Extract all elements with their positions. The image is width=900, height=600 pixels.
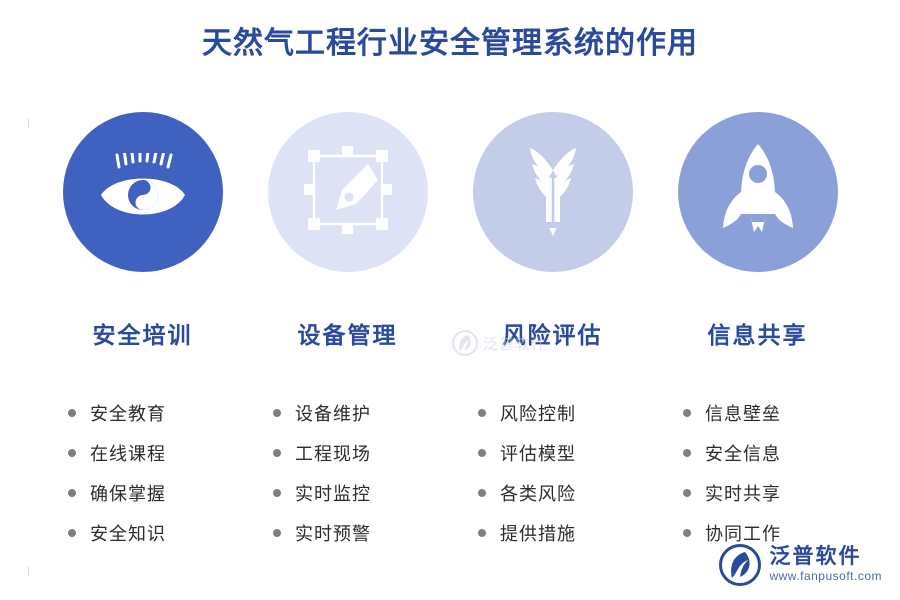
bullet-label: 评估模型 xyxy=(500,440,576,466)
list-item: 安全知识 xyxy=(50,520,235,546)
list-item: 确保掌握 xyxy=(50,480,235,506)
bullet-dot-icon xyxy=(478,409,486,417)
bullet-label: 风险控制 xyxy=(500,400,576,426)
bullet-dot-icon xyxy=(68,529,76,537)
rocket-icon xyxy=(712,140,804,245)
list-item: 评估模型 xyxy=(460,440,645,466)
list-item: 实时共享 xyxy=(665,480,850,506)
bullet-label: 协同工作 xyxy=(705,520,781,546)
column-information-sharing: 信息共享 信息壁垒 安全信息 实时共享 协同工作 xyxy=(665,112,850,560)
icon-circle-3 xyxy=(473,112,633,272)
bullet-label: 安全知识 xyxy=(90,520,166,546)
column-heading-1: 安全培训 xyxy=(93,316,193,350)
edge-tick-left-bottom xyxy=(28,566,29,576)
bullet-label: 在线课程 xyxy=(90,440,166,466)
bullet-label: 各类风险 xyxy=(500,480,576,506)
bullet-label: 提供措施 xyxy=(500,520,576,546)
bullet-label: 确保掌握 xyxy=(90,480,166,506)
icon-circle-1 xyxy=(63,112,223,272)
eye-icon xyxy=(95,153,191,232)
bullet-label: 设备维护 xyxy=(295,400,371,426)
icon-circle-4 xyxy=(678,112,838,272)
bullet-dot-icon xyxy=(478,529,486,537)
bullet-dot-icon xyxy=(478,489,486,497)
list-item: 安全教育 xyxy=(50,400,235,426)
column-heading-3: 风险评估 xyxy=(503,316,603,350)
bullet-label: 实时共享 xyxy=(705,480,781,506)
bullet-list-4: 信息壁垒 安全信息 实时共享 协同工作 xyxy=(665,400,850,560)
list-item: 信息壁垒 xyxy=(665,400,850,426)
list-item: 提供措施 xyxy=(460,520,645,546)
list-item: 实时预警 xyxy=(255,520,440,546)
bullet-label: 工程现场 xyxy=(295,440,371,466)
diagram-page: 天然气工程行业安全管理系统的作用 xyxy=(0,0,900,600)
bullet-label: 信息壁垒 xyxy=(705,400,781,426)
list-item: 各类风险 xyxy=(460,480,645,506)
bullet-label: 安全教育 xyxy=(90,400,166,426)
bullet-dot-icon xyxy=(68,489,76,497)
bullet-dot-icon xyxy=(68,449,76,457)
column-equipment-management: 设备管理 设备维护 工程现场 实时监控 实时预警 xyxy=(255,112,440,560)
bullet-dot-icon xyxy=(273,489,281,497)
bullet-list-2: 设备维护 工程现场 实时监控 实时预警 xyxy=(255,400,440,560)
bullet-dot-icon xyxy=(683,489,691,497)
columns-container: 安全培训 安全教育 在线课程 确保掌握 安全知识 xyxy=(50,112,850,560)
column-risk-assessment: 风险评估 风险控制 评估模型 各类风险 提供措施 xyxy=(460,112,645,560)
column-safety-training: 安全培训 安全教育 在线课程 确保掌握 安全知识 xyxy=(50,112,235,560)
bullet-list-1: 安全教育 在线课程 确保掌握 安全知识 xyxy=(50,400,235,560)
bullet-dot-icon xyxy=(683,529,691,537)
bullet-list-3: 风险控制 评估模型 各类风险 提供措施 xyxy=(460,400,645,560)
bullet-dot-icon xyxy=(273,449,281,457)
bullet-dot-icon xyxy=(273,529,281,537)
list-item: 在线课程 xyxy=(50,440,235,466)
bullet-dot-icon xyxy=(68,409,76,417)
edge-tick-left-top xyxy=(28,118,29,128)
bullet-dot-icon xyxy=(683,409,691,417)
icon-circle-2 xyxy=(268,112,428,272)
bullet-label: 安全信息 xyxy=(705,440,781,466)
bullet-label: 实时监控 xyxy=(295,480,371,506)
watermark-url: www.fanpusoft.com xyxy=(769,568,882,585)
list-item: 风险控制 xyxy=(460,400,645,426)
column-heading-2: 设备管理 xyxy=(298,316,398,350)
list-item: 实时监控 xyxy=(255,480,440,506)
bullet-dot-icon xyxy=(683,449,691,457)
list-item: 安全信息 xyxy=(665,440,850,466)
seedling-pencil-icon xyxy=(510,140,596,245)
list-item: 工程现场 xyxy=(255,440,440,466)
list-item: 协同工作 xyxy=(665,520,850,546)
list-item: 设备维护 xyxy=(255,400,440,426)
bullet-label: 实时预警 xyxy=(295,520,371,546)
pen-tool-icon xyxy=(302,144,394,241)
bullet-dot-icon xyxy=(273,409,281,417)
page-title: 天然气工程行业安全管理系统的作用 xyxy=(0,18,900,62)
bullet-dot-icon xyxy=(478,449,486,457)
column-heading-4: 信息共享 xyxy=(708,316,808,350)
